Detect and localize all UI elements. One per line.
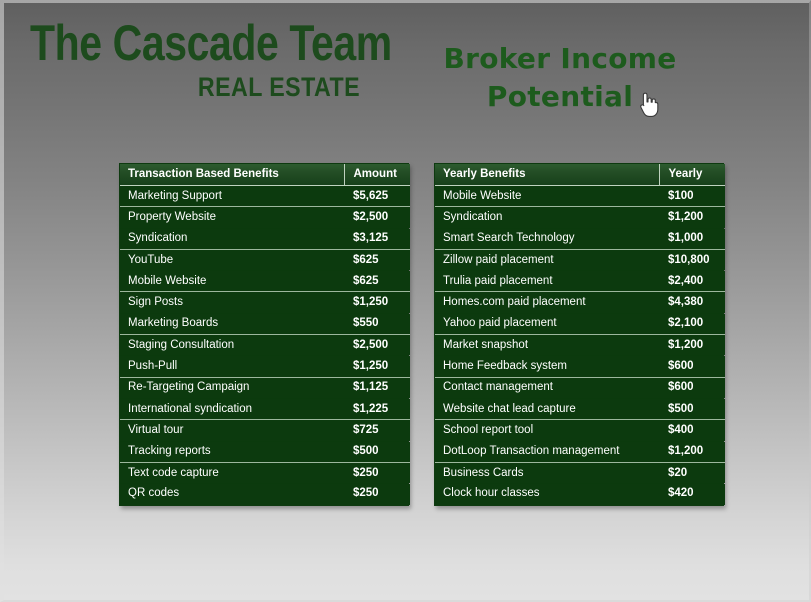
cell-amount: $420: [659, 484, 725, 506]
cell-benefit: Re-Targeting Campaign: [120, 377, 344, 398]
cell-amount: $100: [659, 186, 725, 207]
cell-benefit: DotLoop Transaction management: [435, 441, 659, 462]
table-row[interactable]: YouTube$625: [120, 249, 410, 270]
cell-amount: $250: [344, 484, 410, 506]
cell-benefit: Clock hour classes: [435, 484, 659, 506]
cell-benefit: Sign Posts: [120, 292, 344, 313]
table-row[interactable]: Contact management$600: [435, 377, 725, 398]
cell-amount: $500: [659, 398, 725, 419]
table-row[interactable]: Marketing Boards$550: [120, 313, 410, 334]
benefits-table: Transaction Based Benefits Amount Market…: [120, 164, 410, 505]
cell-benefit: Home Feedback system: [435, 356, 659, 377]
table-yearly-benefits: Yearly Benefits Yearly Mobile Website$10…: [434, 163, 724, 506]
cell-benefit: Website chat lead capture: [435, 398, 659, 419]
table-row[interactable]: Homes.com paid placement$4,380: [435, 292, 725, 313]
cell-amount: $725: [344, 420, 410, 441]
table-row[interactable]: Syndication$3,125: [120, 228, 410, 249]
cell-amount: $2,500: [344, 335, 410, 356]
cell-benefit: Homes.com paid placement: [435, 292, 659, 313]
cell-benefit: Mobile Website: [120, 271, 344, 292]
column-header-benefit[interactable]: Transaction Based Benefits: [120, 164, 344, 186]
cell-benefit: Trulia paid placement: [435, 271, 659, 292]
table-row[interactable]: Clock hour classes$420: [435, 484, 725, 506]
cell-amount: $1,200: [659, 441, 725, 462]
table-row[interactable]: Business Cards$20: [435, 462, 725, 483]
cell-benefit: Syndication: [435, 207, 659, 228]
cell-amount: $625: [344, 271, 410, 292]
cell-benefit: QR codes: [120, 484, 344, 506]
table-row[interactable]: Push-Pull$1,250: [120, 356, 410, 377]
cell-benefit: Virtual tour: [120, 420, 344, 441]
table-row[interactable]: Staging Consultation$2,500: [120, 335, 410, 356]
table-header-row: Yearly Benefits Yearly: [435, 164, 725, 186]
table-header-row: Transaction Based Benefits Amount: [120, 164, 410, 186]
table-row[interactable]: International syndication$1,225: [120, 398, 410, 419]
cell-benefit: Property Website: [120, 207, 344, 228]
table-transaction-based-benefits: Transaction Based Benefits Amount Market…: [119, 163, 409, 506]
cell-amount: $2,400: [659, 271, 725, 292]
table-row[interactable]: Website chat lead capture$500: [435, 398, 725, 419]
column-header-benefit[interactable]: Yearly Benefits: [435, 164, 659, 186]
table-row[interactable]: Sign Posts$1,250: [120, 292, 410, 313]
cell-benefit: International syndication: [120, 398, 344, 419]
cell-amount: $550: [344, 313, 410, 334]
table-row[interactable]: Virtual tour$725: [120, 420, 410, 441]
table-row[interactable]: Yahoo paid placement$2,100: [435, 313, 725, 334]
table-row[interactable]: QR codes$250: [120, 484, 410, 506]
logo-tagline: REAL ESTATE: [76, 72, 360, 102]
cell-benefit: YouTube: [120, 249, 344, 270]
cell-amount: $1,000: [659, 228, 725, 249]
cell-amount: $1,200: [659, 207, 725, 228]
cell-benefit: Tracking reports: [120, 441, 344, 462]
cell-amount: $2,500: [344, 207, 410, 228]
table-row[interactable]: Mobile Website$625: [120, 271, 410, 292]
cell-benefit: Push-Pull: [120, 356, 344, 377]
cell-amount: $4,380: [659, 292, 725, 313]
table-row[interactable]: Home Feedback system$600: [435, 356, 725, 377]
cell-benefit: Marketing Support: [120, 186, 344, 207]
cell-amount: $20: [659, 462, 725, 483]
table-row[interactable]: Market snapshot$1,200: [435, 335, 725, 356]
cell-amount: $400: [659, 420, 725, 441]
page-title: Broker Income Potential: [395, 40, 725, 116]
cell-benefit: Contact management: [435, 377, 659, 398]
cell-benefit: Staging Consultation: [120, 335, 344, 356]
cell-amount: $1,225: [344, 398, 410, 419]
cell-benefit: Syndication: [120, 228, 344, 249]
table-row[interactable]: Marketing Support$5,625: [120, 186, 410, 207]
logo-company-name: The Cascade Team: [30, 16, 301, 70]
cell-benefit: Market snapshot: [435, 335, 659, 356]
cell-amount: $250: [344, 462, 410, 483]
cell-benefit: Business Cards: [435, 462, 659, 483]
cell-benefit: School report tool: [435, 420, 659, 441]
column-header-yearly[interactable]: Yearly: [659, 164, 725, 186]
cell-benefit: Marketing Boards: [120, 313, 344, 334]
table-row[interactable]: Re-Targeting Campaign$1,125: [120, 377, 410, 398]
cell-amount: $1,250: [344, 292, 410, 313]
table-row[interactable]: Property Website$2,500: [120, 207, 410, 228]
cell-amount: $1,250: [344, 356, 410, 377]
table-row[interactable]: Zillow paid placement$10,800: [435, 249, 725, 270]
page-title-line-1: Broker Income: [395, 40, 725, 78]
table-row[interactable]: Smart Search Technology$1,000: [435, 228, 725, 249]
cell-benefit: Mobile Website: [435, 186, 659, 207]
cell-amount: $10,800: [659, 249, 725, 270]
table-row[interactable]: Trulia paid placement$2,400: [435, 271, 725, 292]
company-logo: The Cascade Team REAL ESTATE: [30, 16, 360, 102]
cell-amount: $1,125: [344, 377, 410, 398]
table-row[interactable]: Tracking reports$500: [120, 441, 410, 462]
presentation-slide: The Cascade Team REAL ESTATE Broker Inco…: [0, 0, 811, 602]
column-header-amount[interactable]: Amount: [344, 164, 410, 186]
table-body: Mobile Website$100 Syndication$1,200 Sma…: [435, 186, 725, 506]
cell-amount: $3,125: [344, 228, 410, 249]
table-row[interactable]: DotLoop Transaction management$1,200: [435, 441, 725, 462]
cell-amount: $2,100: [659, 313, 725, 334]
table-row[interactable]: School report tool$400: [435, 420, 725, 441]
table-row[interactable]: Text code capture$250: [120, 462, 410, 483]
cell-benefit: Yahoo paid placement: [435, 313, 659, 334]
cell-amount: $600: [659, 356, 725, 377]
table-row[interactable]: Mobile Website$100: [435, 186, 725, 207]
table-body: Marketing Support$5,625 Property Website…: [120, 186, 410, 506]
table-row[interactable]: Syndication$1,200: [435, 207, 725, 228]
cell-benefit: Smart Search Technology: [435, 228, 659, 249]
cell-amount: $5,625: [344, 186, 410, 207]
cell-amount: $600: [659, 377, 725, 398]
cell-amount: $500: [344, 441, 410, 462]
page-title-line-2: Potential: [395, 78, 725, 116]
benefits-table: Yearly Benefits Yearly Mobile Website$10…: [435, 164, 725, 505]
cell-benefit: Zillow paid placement: [435, 249, 659, 270]
cell-amount: $1,200: [659, 335, 725, 356]
cell-amount: $625: [344, 249, 410, 270]
cell-benefit: Text code capture: [120, 462, 344, 483]
